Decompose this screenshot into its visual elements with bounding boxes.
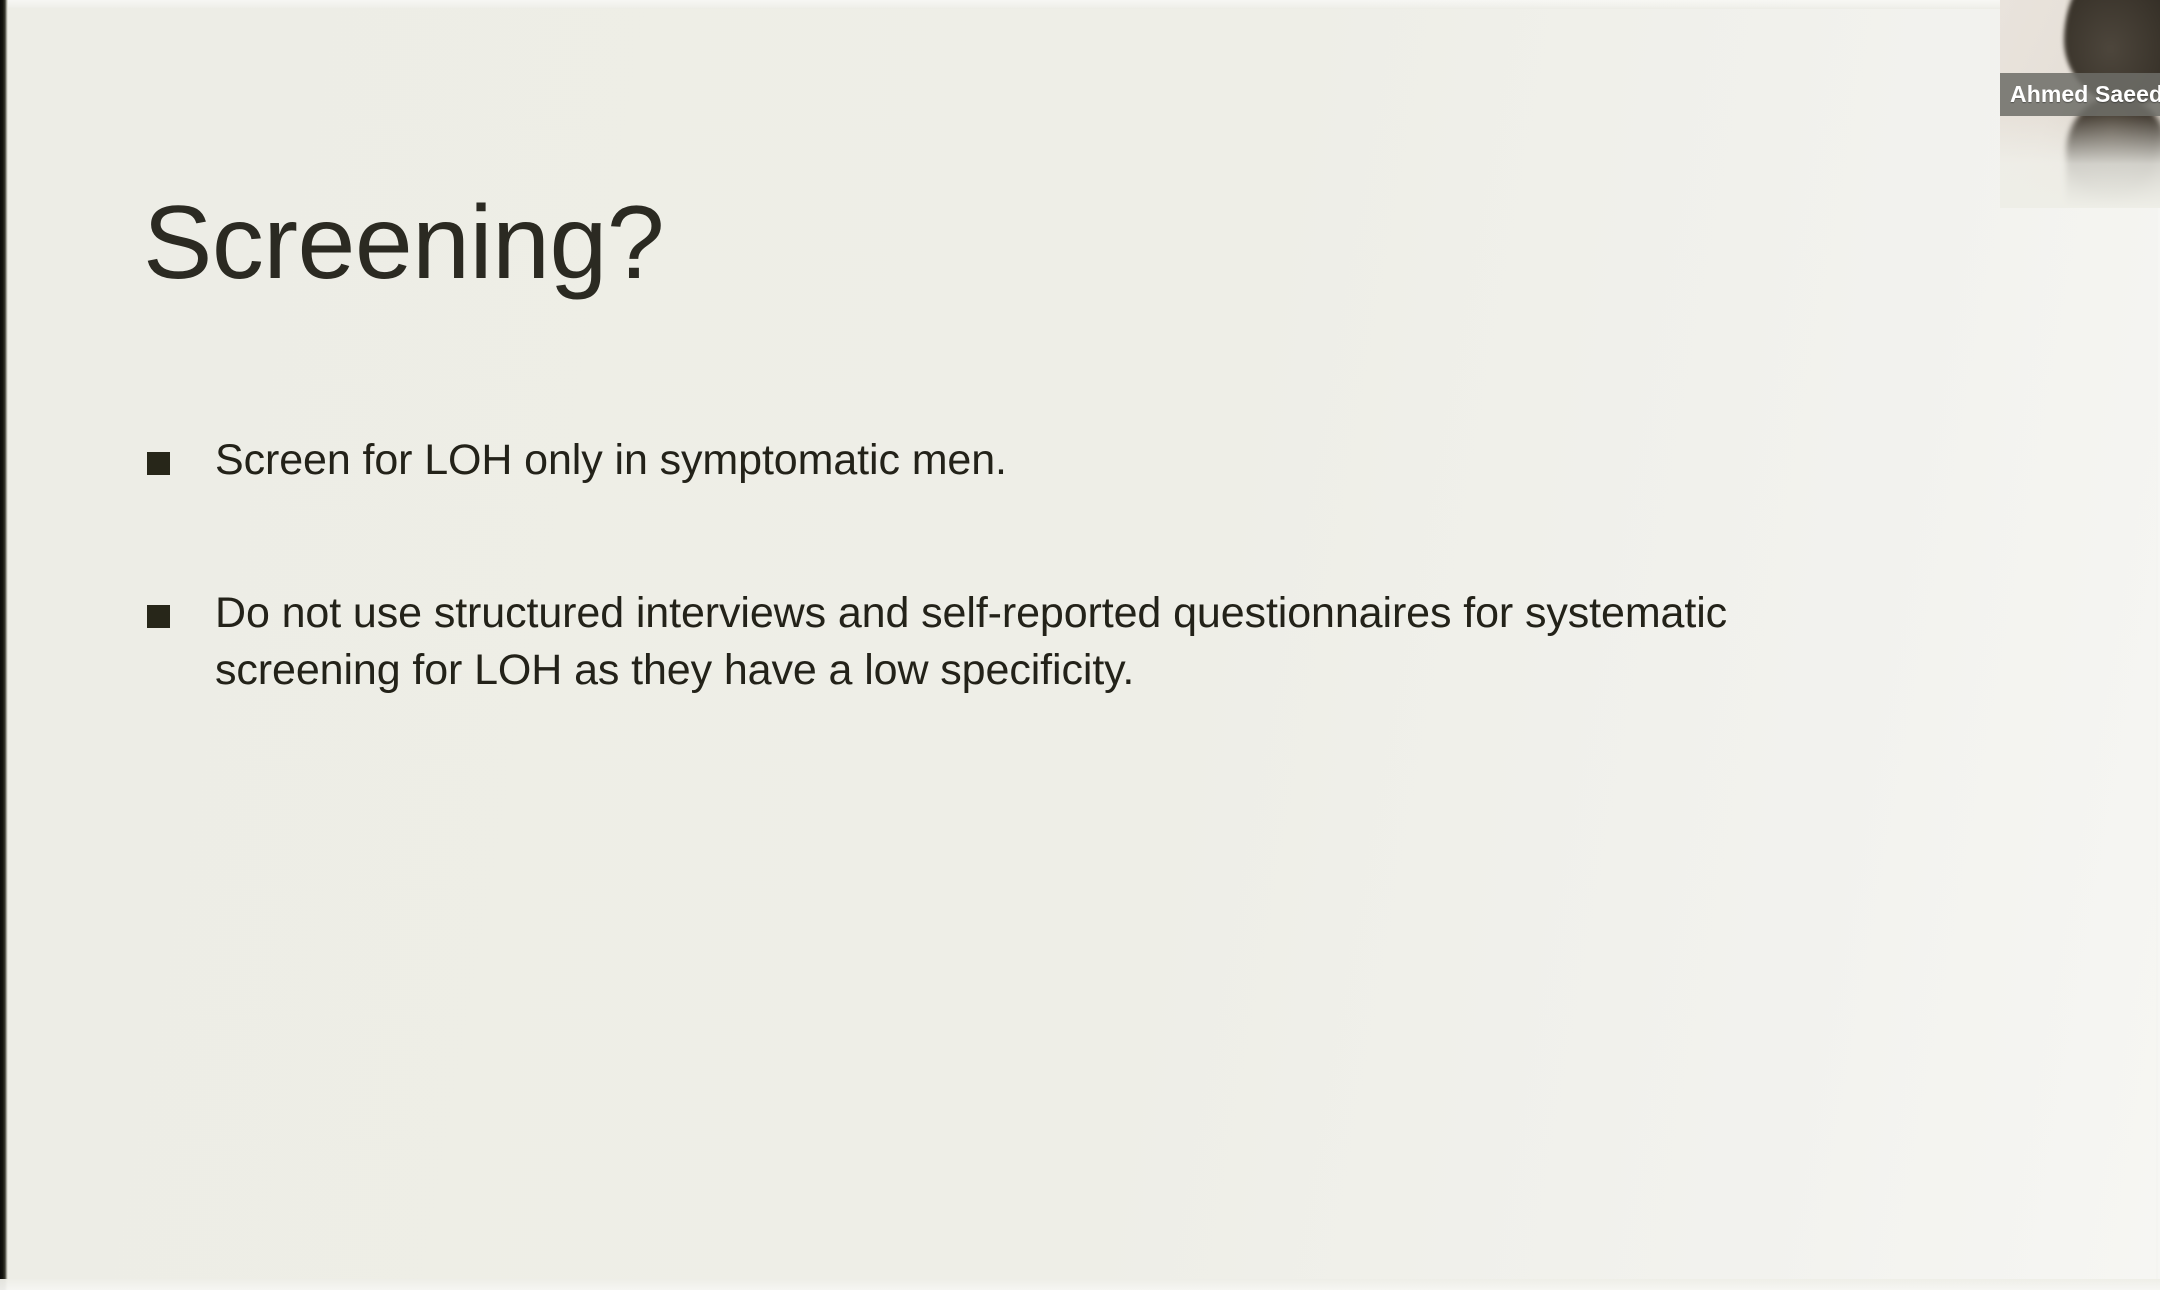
bullet-text: Do not use structured interviews and sel… bbox=[215, 585, 1903, 699]
square-bullet-icon bbox=[147, 605, 170, 628]
slide-title: Screening? bbox=[143, 188, 664, 298]
participant-name-label: Ahmed Saeedi bbox=[2000, 81, 2160, 108]
bullet-line: Do not use structured interviews and sel… bbox=[215, 585, 1903, 642]
participant-name-band: Ahmed Saeedi bbox=[2000, 73, 2160, 116]
bullet-text: Screen for LOH only in symptomatic men. bbox=[215, 432, 1903, 489]
bullet-line: Screen for LOH only in symptomatic men. bbox=[215, 432, 1903, 489]
bullet-line: screening for LOH as they have a low spe… bbox=[215, 642, 1903, 699]
square-bullet-icon bbox=[147, 452, 170, 475]
bullet-item: Do not use structured interviews and sel… bbox=[143, 585, 1903, 699]
participant-video-tile[interactable]: Ahmed Saeedi bbox=[2000, 0, 2160, 208]
capture-frame-left-edge bbox=[0, 0, 8, 1290]
presentation-screen-share: Screening? Screen for LOH only in sympto… bbox=[0, 0, 2160, 1290]
slide-bullet-list: Screen for LOH only in symptomatic men. … bbox=[143, 432, 1903, 698]
video-fade-overlay bbox=[2000, 116, 2160, 208]
capture-frame-top-edge bbox=[0, 0, 2160, 9]
slide-canvas: Screening? Screen for LOH only in sympto… bbox=[0, 0, 2160, 1290]
bullet-item: Screen for LOH only in symptomatic men. bbox=[143, 432, 1903, 489]
capture-frame-bottom-edge bbox=[0, 1279, 2160, 1290]
